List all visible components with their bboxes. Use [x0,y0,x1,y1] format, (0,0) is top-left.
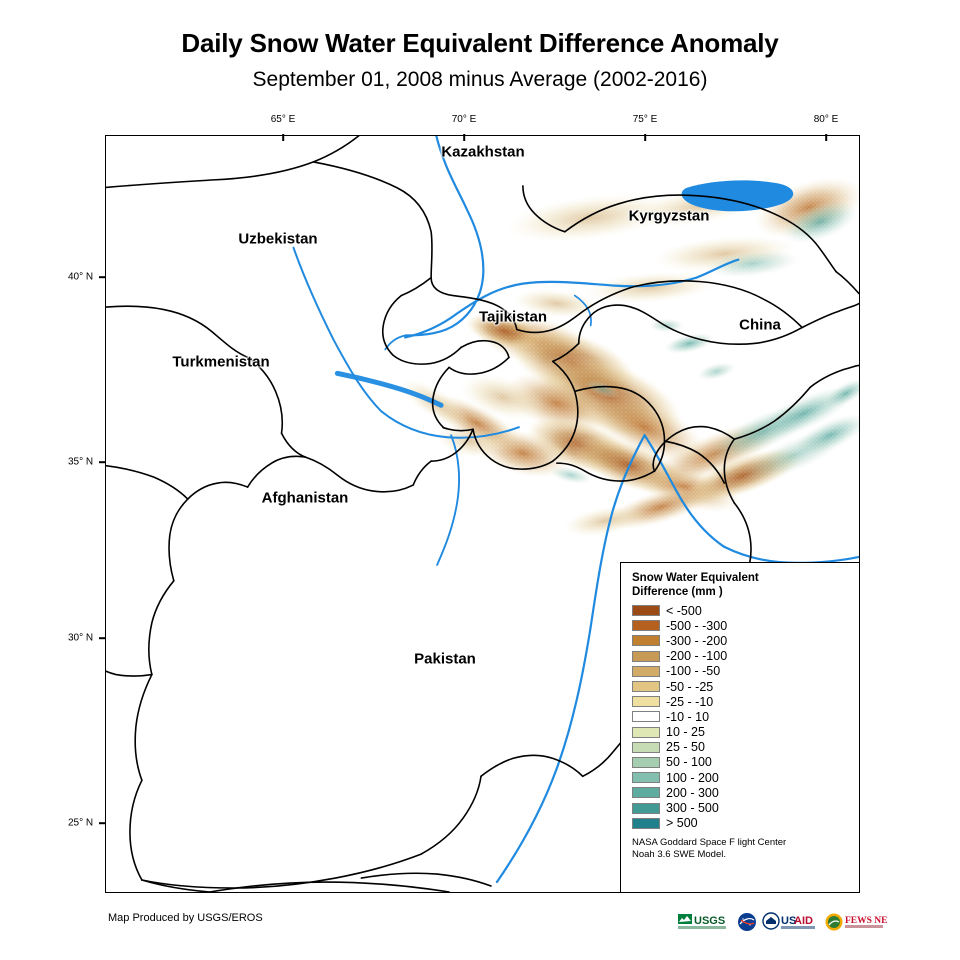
lon-tick-label: 80° E [814,114,839,125]
usaid-logo: US AID [762,912,820,932]
legend-row: 300 - 500 [632,800,850,815]
legend-swatch [632,666,660,677]
legend-row: 50 - 100 [632,755,850,770]
legend-swatch [632,635,660,646]
legend-row: 200 - 300 [632,785,850,800]
legend-label: -25 - -10 [666,696,713,708]
country-label-tajikistan: Tajikistan [479,309,547,326]
legend-swatch [632,711,660,722]
legend-label: > 500 [666,817,698,829]
legend-label: 50 - 100 [666,756,712,768]
legend-row: < -500 [632,603,850,618]
map-credit: Map Produced by USGS/EROS [108,912,263,924]
legend-row: -10 - 10 [632,709,850,724]
lon-tick-mark [644,134,646,141]
lat-tick-label: 30° N [68,633,93,644]
legend-row: -100 - -50 [632,664,850,679]
legend-swatch [632,787,660,798]
lat-tick-label: 35° N [68,457,93,468]
legend-row: -200 - -100 [632,649,850,664]
legend-row: -50 - -25 [632,679,850,694]
lon-tick-mark [463,134,465,141]
legend-swatch [632,681,660,692]
legend-swatch [632,742,660,753]
legend-label: -50 - -25 [666,681,713,693]
legend-label: -200 - -100 [666,650,727,662]
legend-row: > 500 [632,816,850,831]
legend-title-line1: Snow Water Equivalent [632,571,850,585]
lon-tick-label: 65° E [271,114,296,125]
page-subtitle: September 01, 2008 minus Average (2002-2… [0,68,960,92]
legend-label: -500 - -300 [666,620,727,632]
legend-label: -10 - 10 [666,711,709,723]
lon-tick-label: 75° E [633,114,658,125]
map-legend[interactable]: Snow Water Equivalent Difference (mm ) <… [620,562,860,893]
country-label-pakistan: Pakistan [414,651,476,668]
country-label-afghanistan: Afghanistan [262,490,349,507]
legend-swatch [632,605,660,616]
lat-tick-mark [99,461,106,463]
legend-row: 25 - 50 [632,740,850,755]
agency-logos: USGS US AID FEWS NET [678,909,887,935]
swe-anomaly-raster [394,166,859,555]
lat-tick-mark [99,276,106,278]
usgs-logo: USGS [678,912,732,932]
country-label-kazakhstan: Kazakhstan [441,144,524,161]
legend-label: 10 - 25 [666,726,705,738]
legend-swatch [632,803,660,814]
lon-tick-label: 70° E [452,114,477,125]
svg-text:USGS: USGS [694,915,725,927]
legend-row: -300 - -200 [632,633,850,648]
legend-swatch [632,727,660,738]
lat-tick-label: 40° N [68,272,93,283]
legend-swatch [632,696,660,707]
legend-row: 100 - 200 [632,770,850,785]
lon-tick-mark [282,134,284,141]
legend-label: -300 - -200 [666,635,727,647]
nasa-logo [737,912,757,932]
legend-row: 10 - 25 [632,725,850,740]
lat-tick-label: 25° N [68,818,93,829]
legend-label: 25 - 50 [666,741,705,753]
legend-entries: < -500-500 - -300-300 - -200-200 - -100-… [632,603,850,831]
legend-title-line2: Difference (mm ) [632,585,850,599]
legend-swatch [632,818,660,829]
country-label-turkmenistan: Turkmenistan [172,354,269,371]
fewsnet-logo: FEWS NET [825,912,887,932]
lat-tick-mark [99,822,106,824]
legend-label: 200 - 300 [666,787,719,799]
legend-swatch [632,620,660,631]
legend-footer-line2: Noah 3.6 SWE Model. [632,849,850,862]
svg-text:AID: AID [794,915,813,927]
legend-source-note: NASA Goddard Space F light Center Noah 3… [632,837,850,862]
legend-title: Snow Water Equivalent Difference (mm ) [632,571,850,599]
page-title: Daily Snow Water Equivalent Difference A… [0,28,960,59]
svg-text:FEWS NET: FEWS NET [845,916,887,926]
country-label-china: China [739,317,781,334]
legend-label: < -500 [666,605,702,617]
legend-label: -100 - -50 [666,665,720,677]
country-label-uzbekistan: Uzbekistan [238,231,317,248]
legend-swatch [632,772,660,783]
country-label-kyrgyzstan: Kyrgyzstan [629,208,710,225]
lat-tick-mark [99,637,106,639]
legend-swatch [632,651,660,662]
legend-label: 300 - 500 [666,802,719,814]
lon-tick-mark [825,134,827,141]
legend-row: -500 - -300 [632,618,850,633]
legend-row: -25 - -10 [632,694,850,709]
legend-swatch [632,757,660,768]
legend-label: 100 - 200 [666,772,719,784]
legend-footer-line1: NASA Goddard Space F light Center [632,837,850,850]
